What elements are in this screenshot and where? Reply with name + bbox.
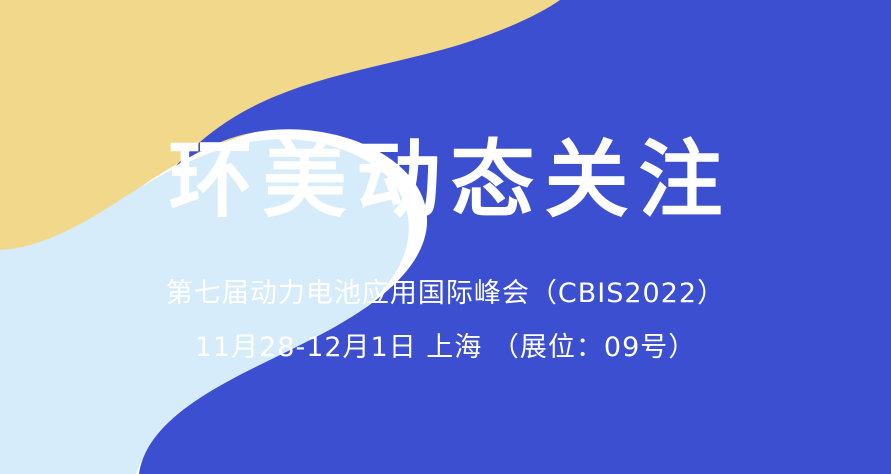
- poster-background-art: [0, 0, 891, 474]
- poster-banner: 环美动态关注 第七届动力电池应用国际峰会（CBIS2022） 11月28-12月…: [0, 0, 891, 474]
